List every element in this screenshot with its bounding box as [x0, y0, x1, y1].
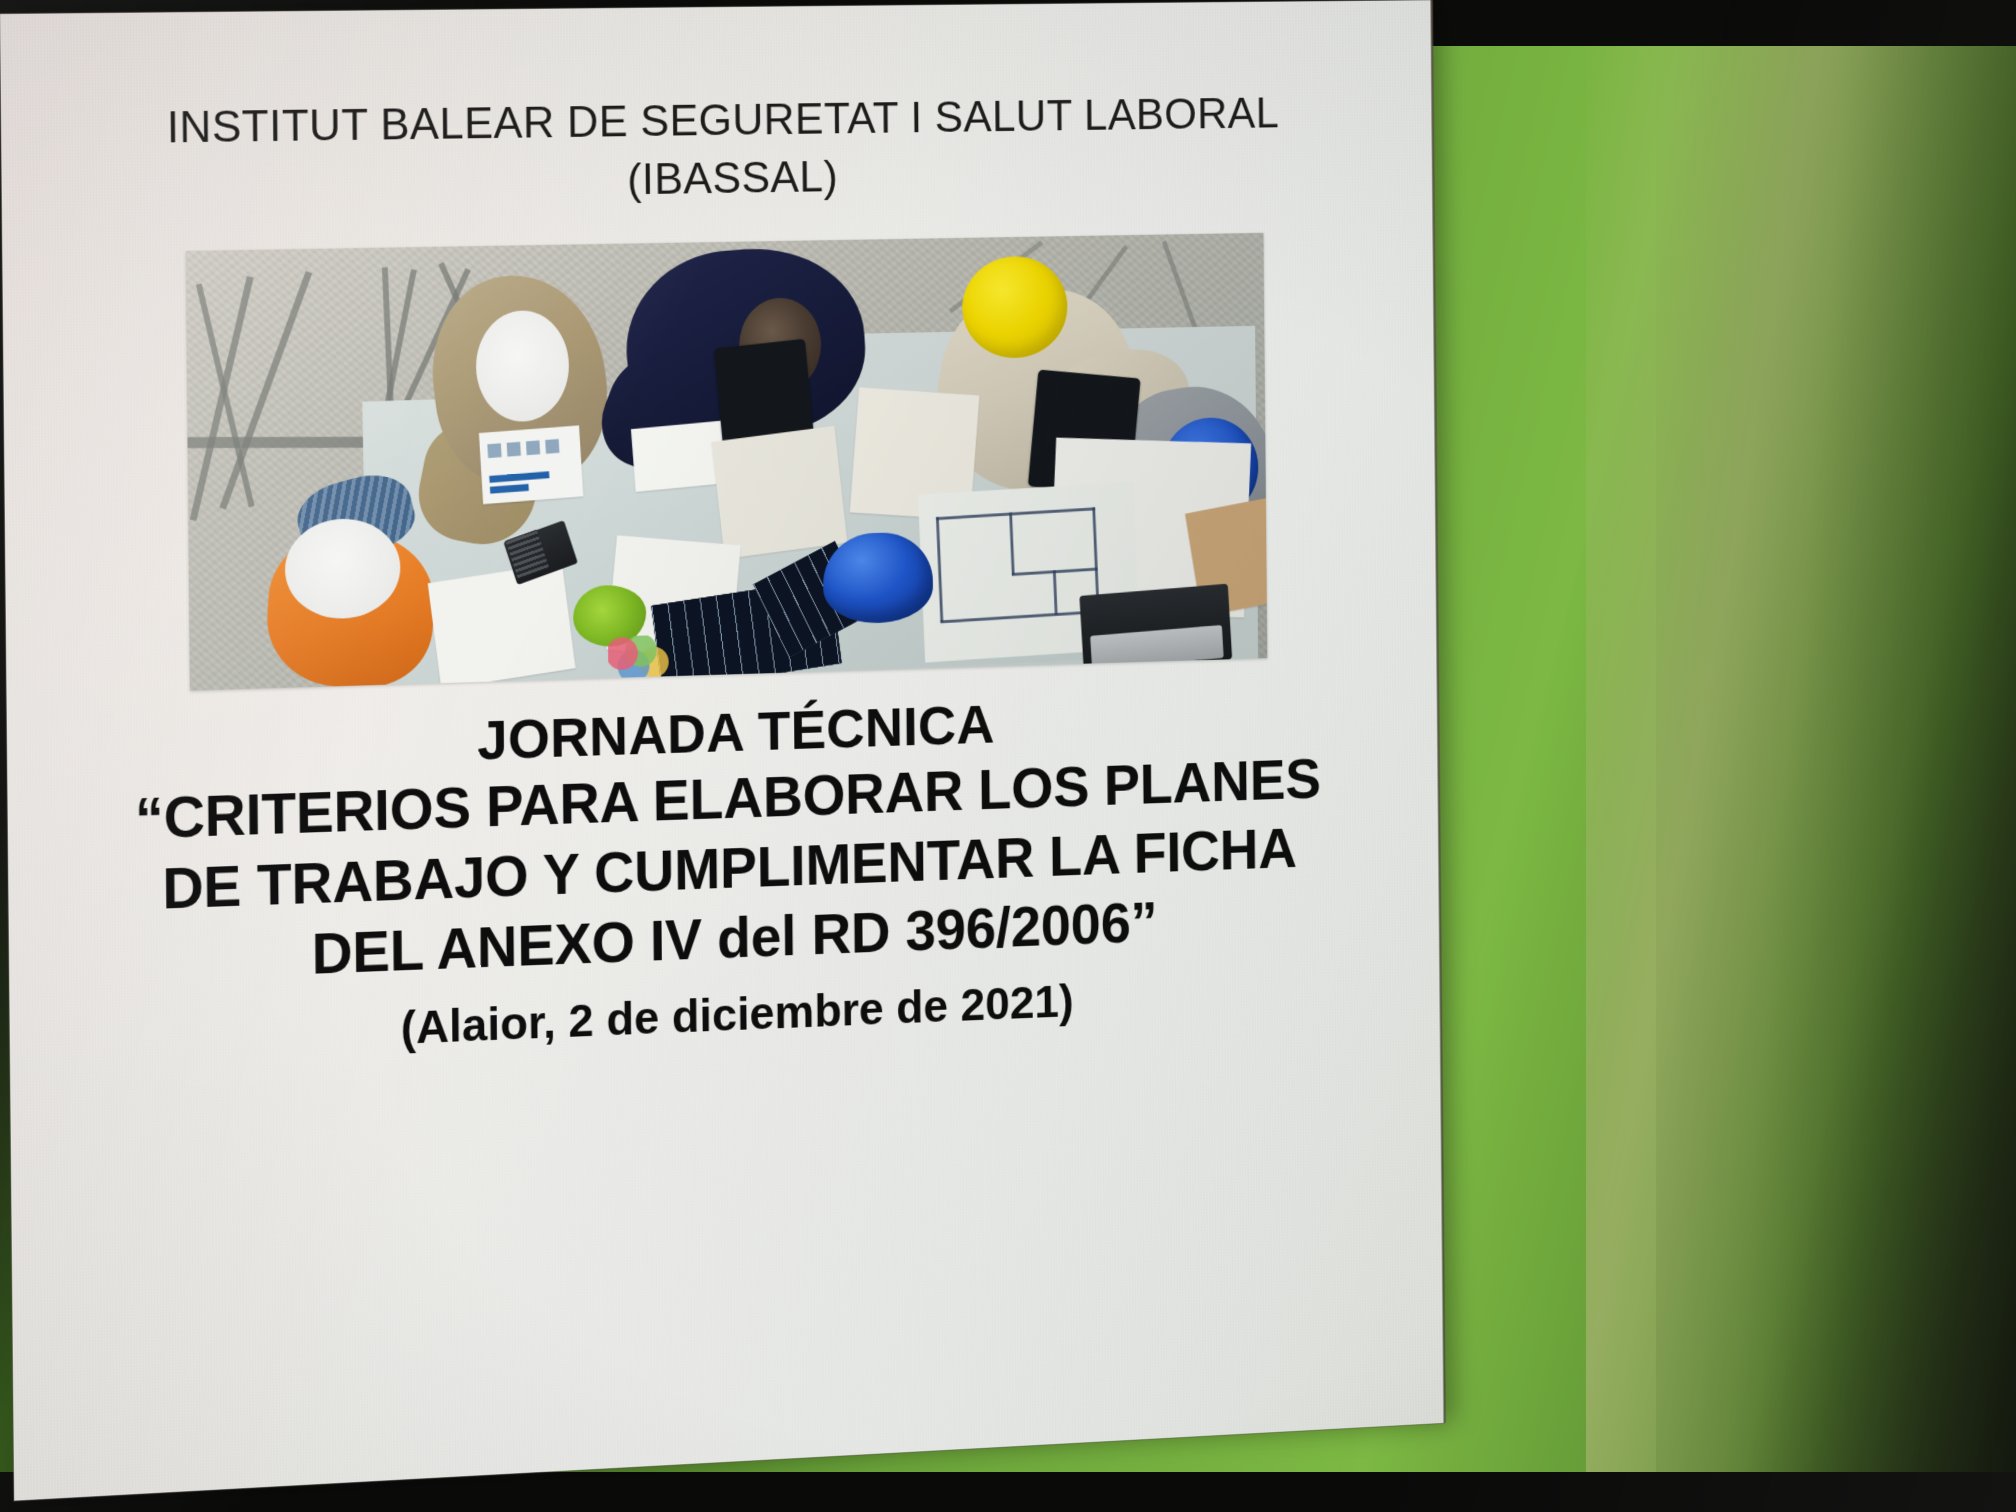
photo-of-projected-slide: INSTITUT BALEAR DE SEGURETAT I SALUT LAB… — [0, 0, 2016, 1512]
slide-photo — [186, 233, 1268, 691]
organisation-title: INSTITUT BALEAR DE SEGURETAT I SALUT LAB… — [166, 85, 1279, 216]
wall-shadow — [1656, 0, 2016, 1512]
slide-surface: INSTITUT BALEAR DE SEGURETAT I SALUT LAB… — [0, 0, 1444, 1501]
document-sheet — [428, 563, 576, 689]
slide-headline: JORNADA TÉCNICA “CRITERIOS PARA ELABORAR… — [134, 682, 1323, 1066]
document-sheet — [712, 426, 848, 559]
projection-screen: INSTITUT BALEAR DE SEGURETAT I SALUT LAB… — [0, 0, 1444, 1501]
color-swatches — [608, 635, 672, 680]
chart-printout — [479, 425, 584, 504]
blue-hard-hat — [823, 532, 933, 625]
